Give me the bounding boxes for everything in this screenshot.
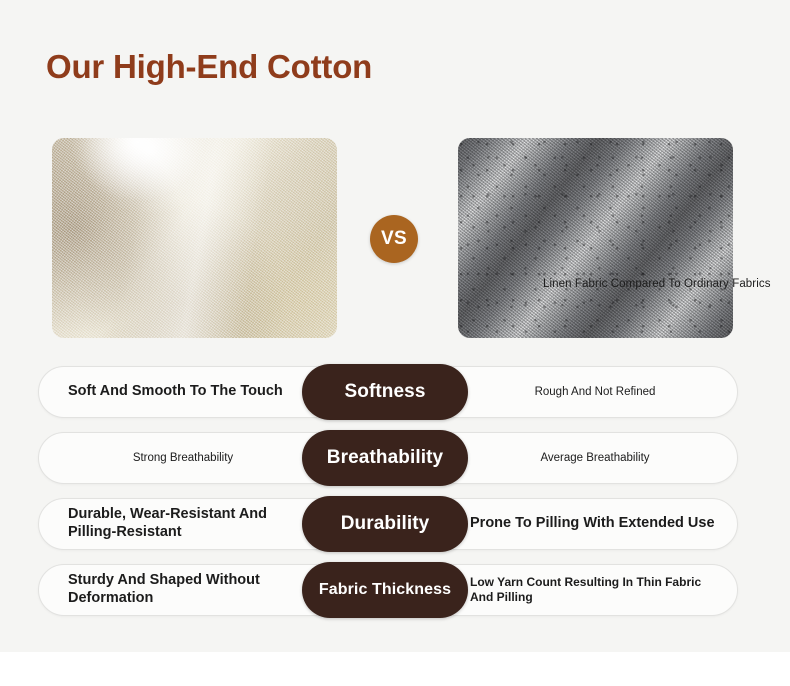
comparison-rows: Soft And Smooth To The Touch Rough And N… (0, 366, 790, 630)
row-attribute-pill: Breathability (302, 430, 468, 486)
comparison-row: Soft And Smooth To The Touch Rough And N… (0, 366, 790, 418)
vs-badge: VS (370, 215, 418, 263)
row-theirs-text: Rough And Not Refined (470, 366, 720, 418)
gray-fabric-texture (458, 138, 733, 338)
comparison-caption: Linen Fabric Compared To Ordinary Fabric… (543, 278, 771, 290)
fabric-swatch-beige-icon (52, 138, 337, 338)
product-detail-page: Our High-End Cotton Linen Fabric Compare… (0, 0, 790, 686)
beige-fabric-texture (52, 138, 337, 338)
row-ours-text: Durable, Wear-Resistant And Pilling-Resi… (68, 498, 298, 550)
comparison-row: Sturdy And Shaped Without Deformation Lo… (0, 564, 790, 616)
row-theirs-text: Average Breathability (470, 432, 720, 484)
row-theirs-text: Low Yarn Count Resulting In Thin Fabric … (470, 564, 720, 616)
comparison-row: Durable, Wear-Resistant And Pilling-Resi… (0, 498, 790, 550)
row-ours-text: Soft And Smooth To The Touch (68, 366, 298, 418)
comparison-row: Strong Breathability Average Breathabili… (0, 432, 790, 484)
page-title: Our High-End Cotton (46, 48, 372, 86)
row-attribute-pill: Fabric Thickness (302, 562, 468, 618)
row-ours-text: Strong Breathability (68, 432, 298, 484)
fabric-swatch-gray-icon (458, 138, 733, 338)
row-theirs-text: Prone To Pilling With Extended Use (470, 498, 720, 550)
row-attribute-pill: Durability (302, 496, 468, 552)
row-attribute-pill: Softness (302, 364, 468, 420)
row-ours-text: Sturdy And Shaped Without Deformation (68, 564, 298, 616)
